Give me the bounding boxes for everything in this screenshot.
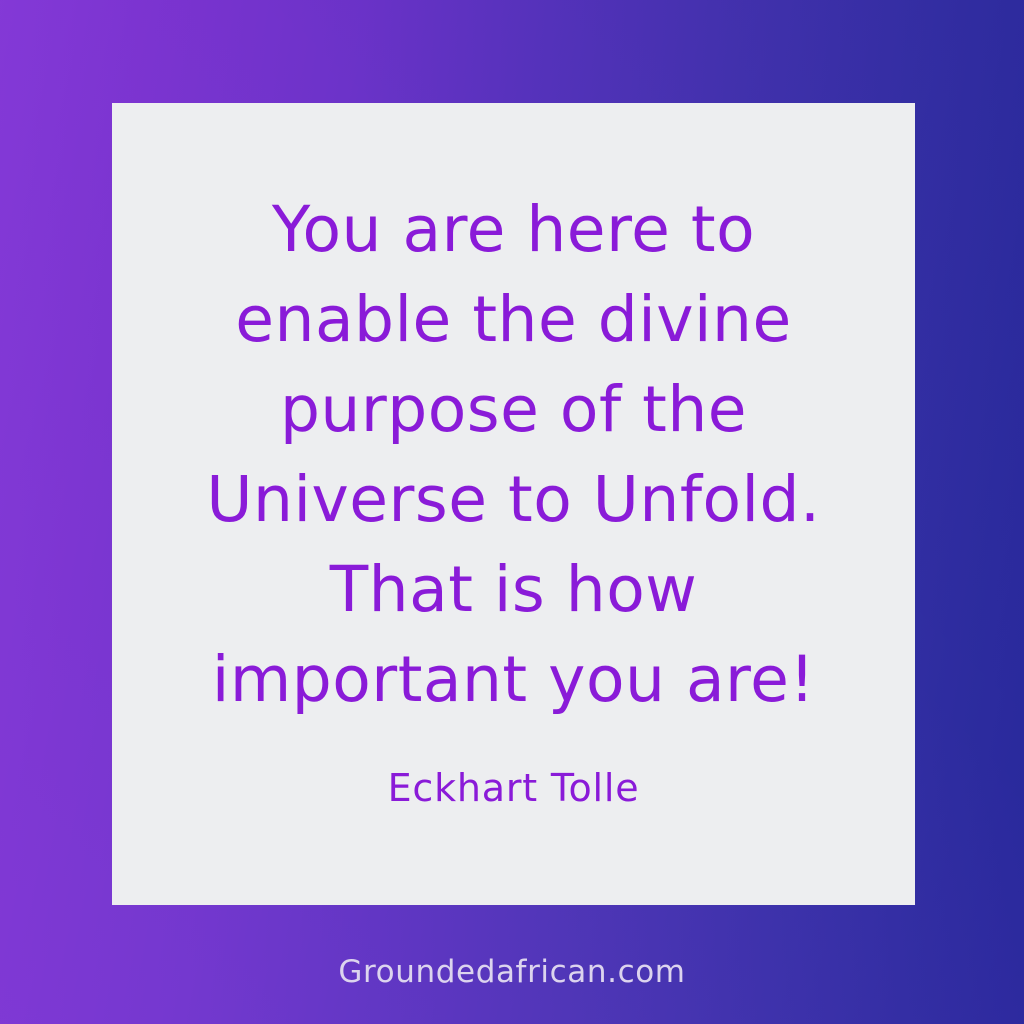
- site-watermark: Groundedafrican.com: [0, 952, 1024, 992]
- quote-text: You are here to enable the divine purpos…: [138, 185, 889, 725]
- quote-attribution: Eckhart Tolle: [138, 765, 889, 811]
- quote-card: You are here to enable the divine purpos…: [112, 103, 915, 905]
- quote-image-canvas: You are here to enable the divine purpos…: [0, 0, 1024, 1024]
